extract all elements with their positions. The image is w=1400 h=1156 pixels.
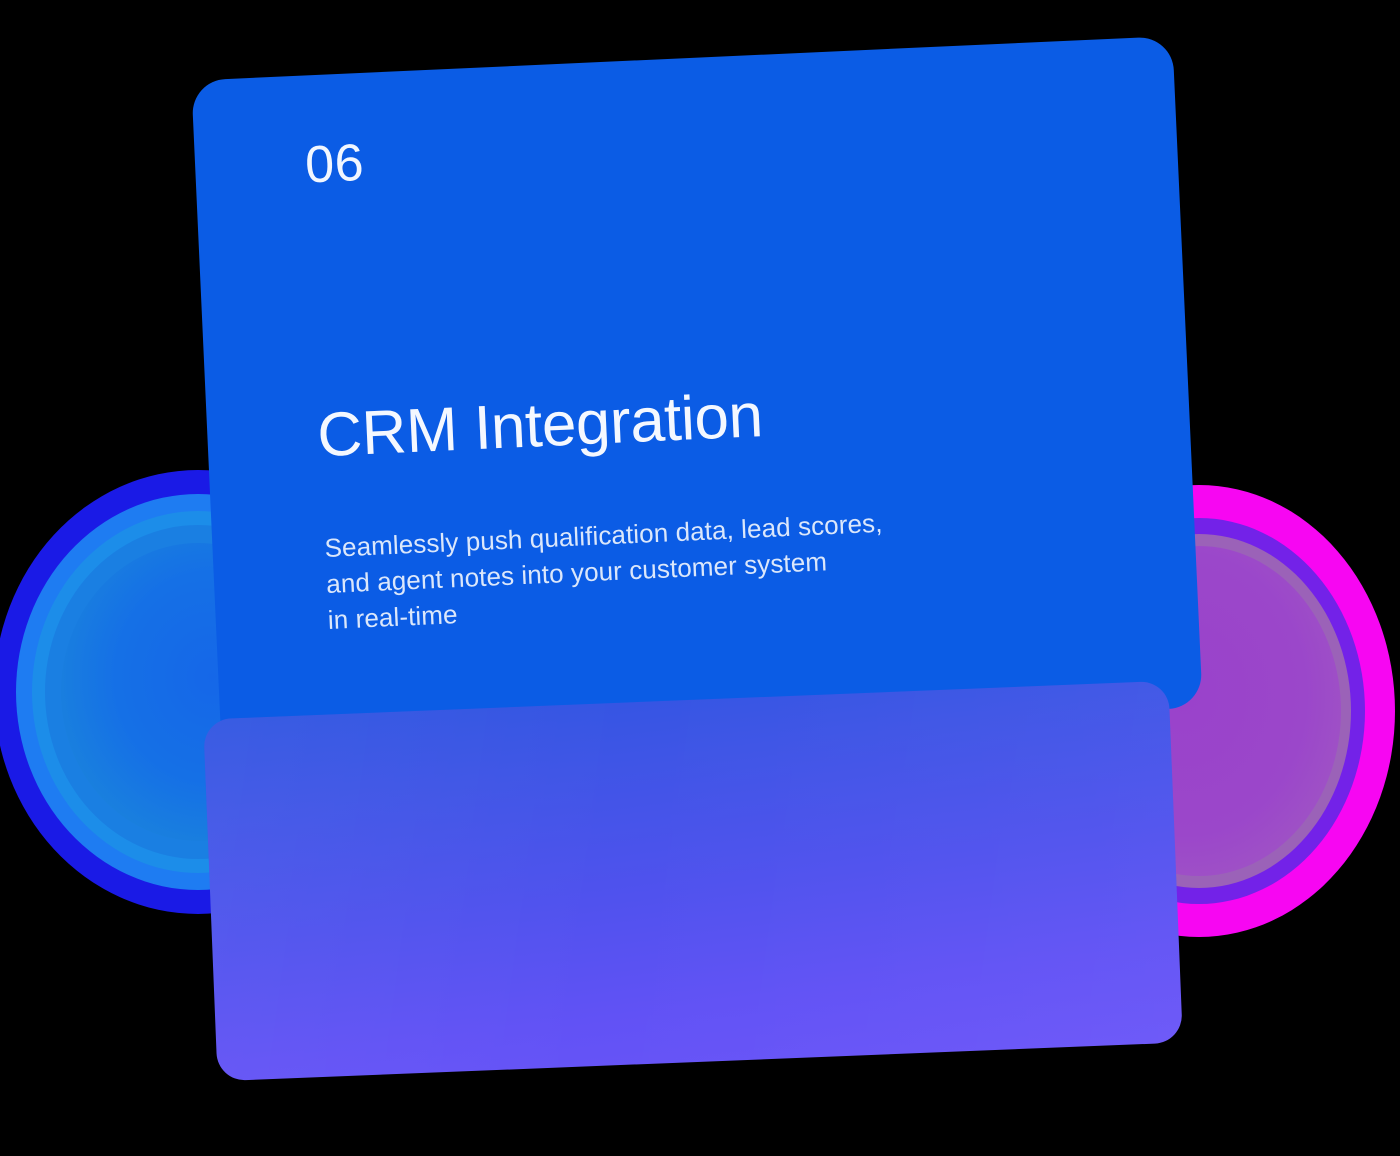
card-step-number: 06 — [304, 137, 365, 192]
lower-gradient-card[interactable] — [203, 681, 1183, 1081]
card-description: Seamlessly push qualification data, lead… — [324, 495, 1128, 639]
card-title: CRM Integration — [316, 385, 764, 467]
feature-card[interactable]: 06 CRM Integration Seamlessly push quali… — [191, 36, 1202, 752]
feature-card-content: 06 CRM Integration Seamlessly push quali… — [252, 91, 1143, 698]
canvas: 06 CRM Integration Seamlessly push quali… — [0, 0, 1400, 1156]
lower-card-sheen — [203, 681, 1183, 1081]
